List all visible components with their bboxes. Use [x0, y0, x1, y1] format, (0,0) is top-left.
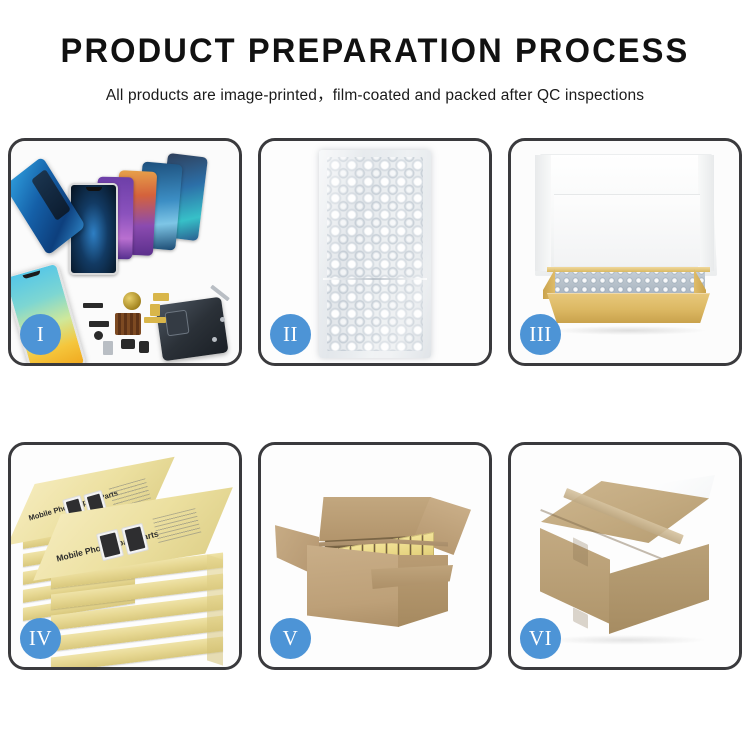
spare-part-connector-strip: [89, 321, 109, 327]
step-number-badge-4: IV: [20, 618, 61, 659]
process-step-grid: I II III: [8, 138, 742, 670]
spare-part-flex-cable-2: [150, 304, 160, 316]
box-shadow: [553, 326, 705, 335]
page-title: PRODUCT PREPARATION PROCESS: [15, 34, 735, 70]
plastic-gloss-highlight: [319, 150, 431, 358]
spare-part-flex-cable-1: [153, 293, 169, 301]
phone-back-housing: [155, 297, 228, 362]
box-lid-flap-right: [698, 155, 714, 271]
box-lid-inner-panel: [554, 194, 700, 266]
bubble-wrap-pouch: [319, 150, 431, 358]
process-step-panel-3[interactable]: III: [508, 138, 742, 366]
process-step-panel-6[interactable]: VI: [508, 442, 742, 670]
spare-part-camera-module: [94, 331, 103, 340]
spare-part-button-set: [139, 341, 149, 353]
spare-part-flex-cable-3: [144, 317, 166, 323]
spare-part-battery-connector: [103, 341, 113, 355]
page-subtitle: All products are image-printed，film-coat…: [0, 83, 750, 105]
spare-part-screw-2: [212, 337, 217, 342]
process-step-panel-5[interactable]: V: [258, 442, 492, 670]
stack-right-side-shading: [207, 554, 223, 665]
step-number-badge-1: I: [20, 314, 61, 355]
step-number-badge-3: III: [520, 314, 561, 355]
step-number-badge-5: V: [270, 618, 311, 659]
page-header: PRODUCT PREPARATION PROCESS All products…: [0, 0, 750, 105]
box-front-kraft: [547, 293, 710, 323]
spare-part-vibration-motor: [123, 292, 141, 310]
step-number-badge-2: II: [270, 314, 311, 355]
box-lid-flap-left: [535, 155, 551, 271]
box-rim: [547, 267, 710, 272]
sealed-carton-shadow: [547, 635, 707, 645]
spare-part-flex-strip: [83, 303, 103, 308]
process-step-panel-2[interactable]: II: [258, 138, 492, 366]
step-number-badge-6: VI: [520, 618, 561, 659]
process-step-panel-1[interactable]: I: [8, 138, 242, 366]
spare-part-screw-1: [220, 317, 225, 322]
spare-part-logic-board: [115, 313, 141, 335]
process-step-panel-4[interactable]: Mobile Phone Spare Parts Mobile Phone Sp…: [8, 442, 242, 670]
spare-part-speaker: [121, 339, 135, 349]
